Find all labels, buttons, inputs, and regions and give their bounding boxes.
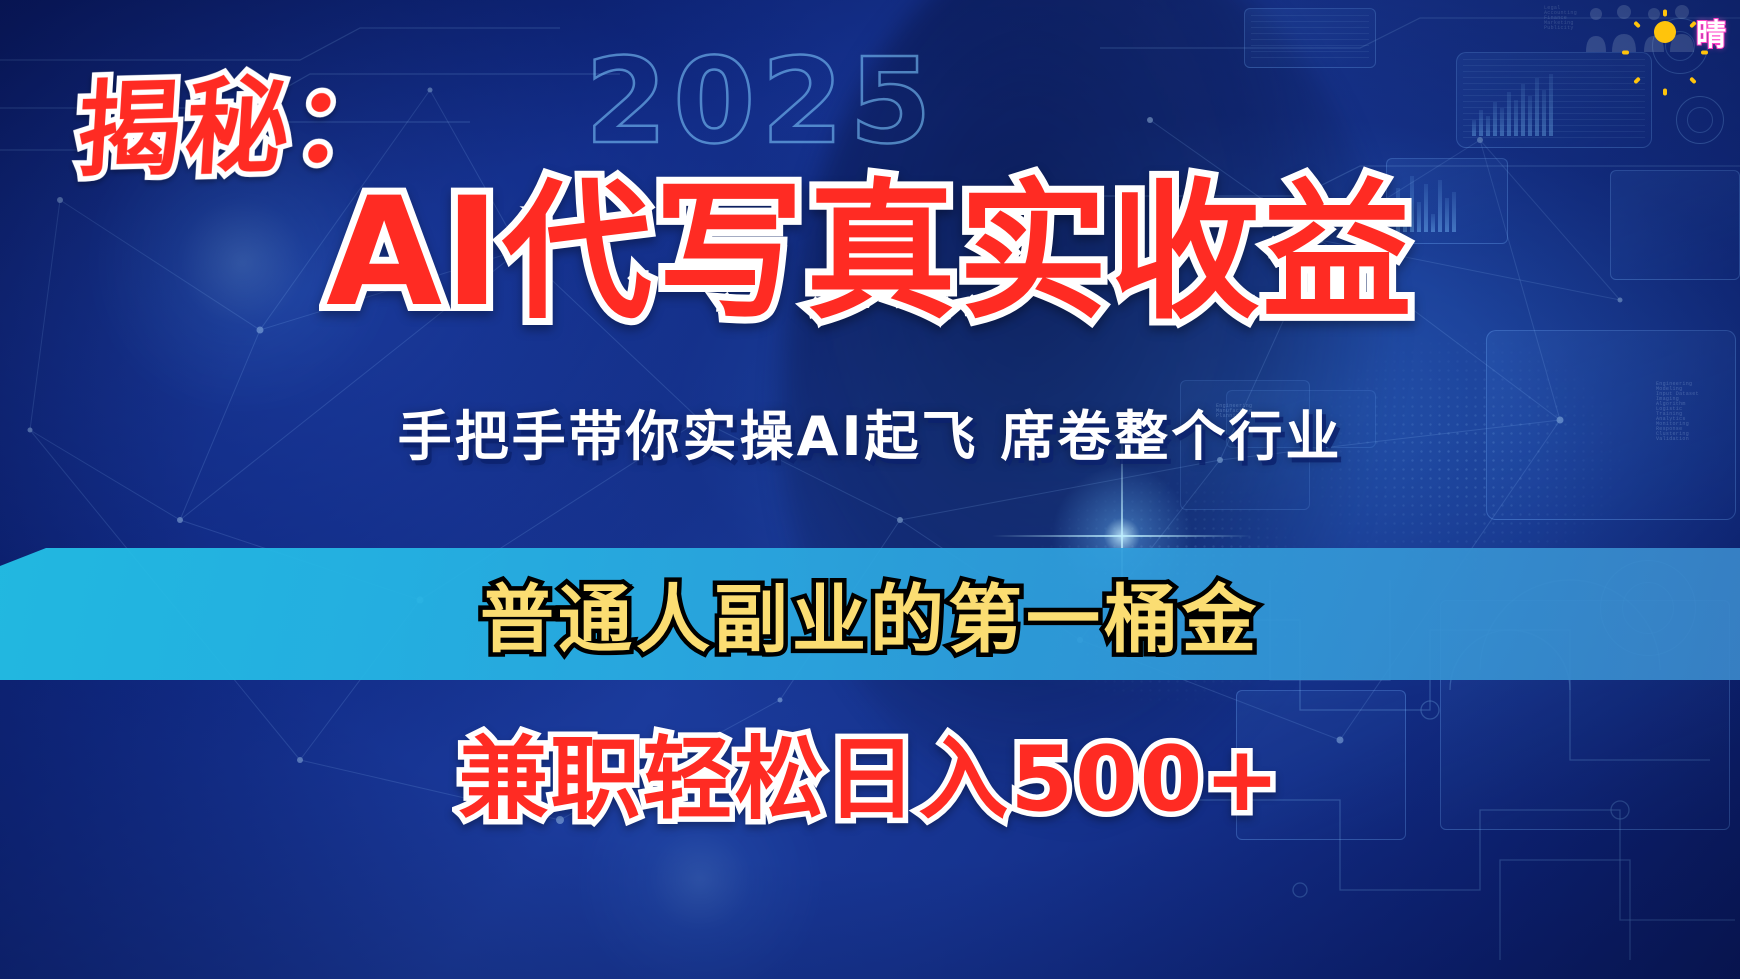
- sun-icon: [1643, 10, 1687, 54]
- subtitle: 手把手带你实操AI起飞 席卷整个行业: [0, 392, 1740, 471]
- highlight-band-text: 普通人副业的第一桶金: [0, 543, 1740, 683]
- year-watermark: 2025: [585, 32, 937, 170]
- page-title: AI代写真实收益: [0, 178, 1740, 328]
- promo-poster: Engineering Modeling Input Dataset Imagi…: [0, 0, 1740, 979]
- weather-label: 晴: [1696, 10, 1726, 54]
- weather-badge[interactable]: 晴: [1643, 10, 1726, 54]
- bottom-callout: 兼职轻松日入500+: [0, 706, 1740, 836]
